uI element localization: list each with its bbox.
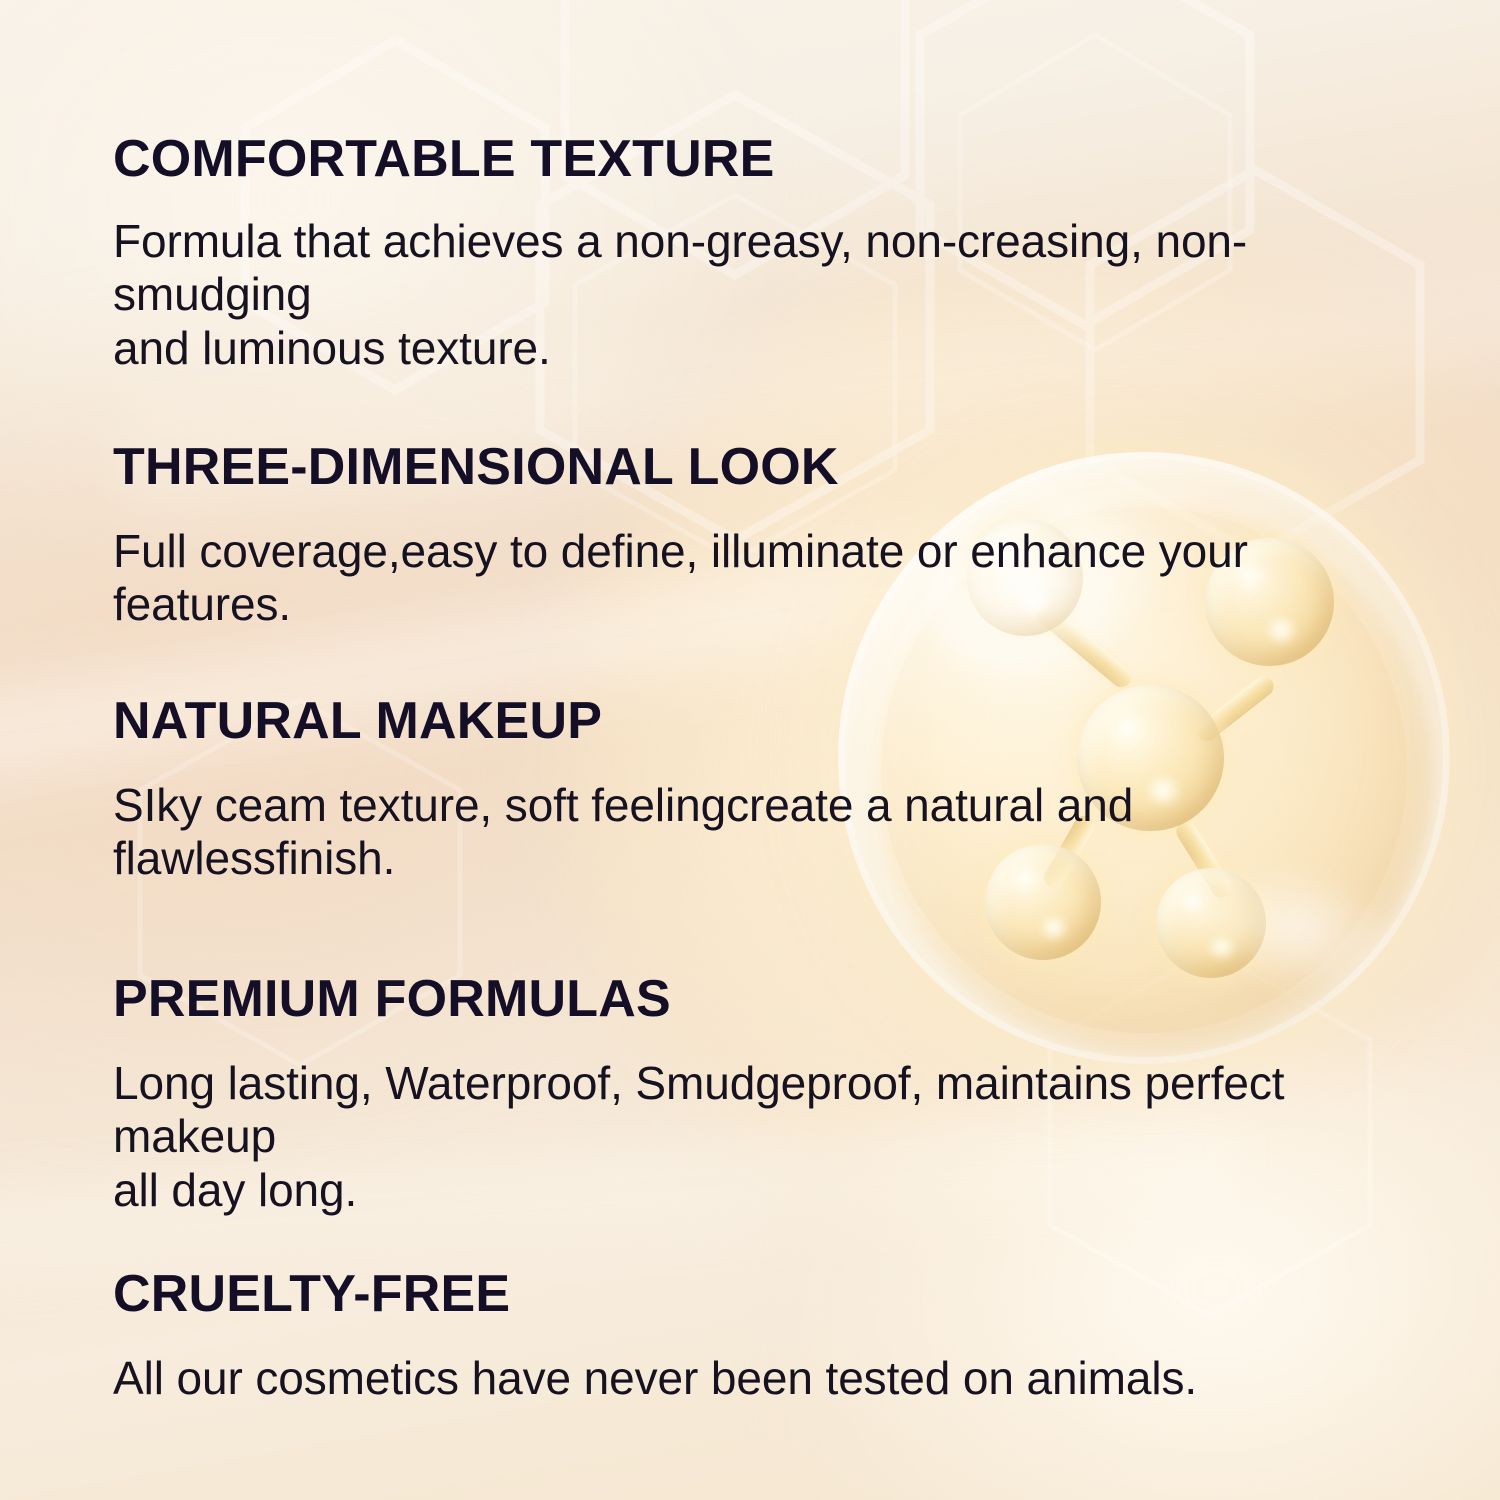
- feature-description-line: all day long.: [113, 1164, 1413, 1218]
- feature-premium-formulas: PREMIUM FORMULAS Long lasting, Waterproo…: [113, 972, 1433, 1218]
- product-feature-infographic: COMFORTABLE TEXTURE Formula that achieve…: [0, 0, 1500, 1500]
- feature-description-line: All our cosmetics have never been tested…: [113, 1352, 1413, 1406]
- feature-description-line: and luminous texture.: [113, 322, 1413, 376]
- feature-description: All our cosmetics have never been tested…: [113, 1352, 1413, 1406]
- feature-description-line: Long lasting, Waterproof, Smudgeproof, m…: [113, 1057, 1413, 1165]
- feature-title: PREMIUM FORMULAS: [113, 972, 1433, 1027]
- feature-comfortable-texture: COMFORTABLE TEXTURE Formula that achieve…: [113, 132, 1433, 376]
- feature-title: THREE-DIMENSIONAL LOOK: [113, 440, 1433, 495]
- feature-description: Full coverage,easy to define, illuminate…: [113, 525, 1413, 633]
- feature-description: SIky ceam texture, soft feelingcreate a …: [113, 779, 1413, 887]
- feature-description-line: Full coverage,easy to define, illuminate…: [113, 525, 1413, 633]
- feature-title: NATURAL MAKEUP: [113, 694, 1433, 749]
- feature-description: Formula that achieves a non-greasy, non-…: [113, 215, 1413, 376]
- feature-description-line: Formula that achieves a non-greasy, non-…: [113, 215, 1413, 323]
- feature-title: CRUELTY-FREE: [113, 1267, 1433, 1322]
- feature-natural-makeup: NATURAL MAKEUP SIky ceam texture, soft f…: [113, 694, 1433, 886]
- feature-description-line: SIky ceam texture, soft feelingcreate a …: [113, 779, 1413, 887]
- feature-description: Long lasting, Waterproof, Smudgeproof, m…: [113, 1057, 1413, 1218]
- feature-cruelty-free: CRUELTY-FREE All our cosmetics have neve…: [113, 1267, 1433, 1405]
- feature-three-dimensional-look: THREE-DIMENSIONAL LOOK Full coverage,eas…: [113, 440, 1433, 632]
- feature-list: COMFORTABLE TEXTURE Formula that achieve…: [0, 0, 1500, 1500]
- feature-title: COMFORTABLE TEXTURE: [113, 132, 1433, 187]
